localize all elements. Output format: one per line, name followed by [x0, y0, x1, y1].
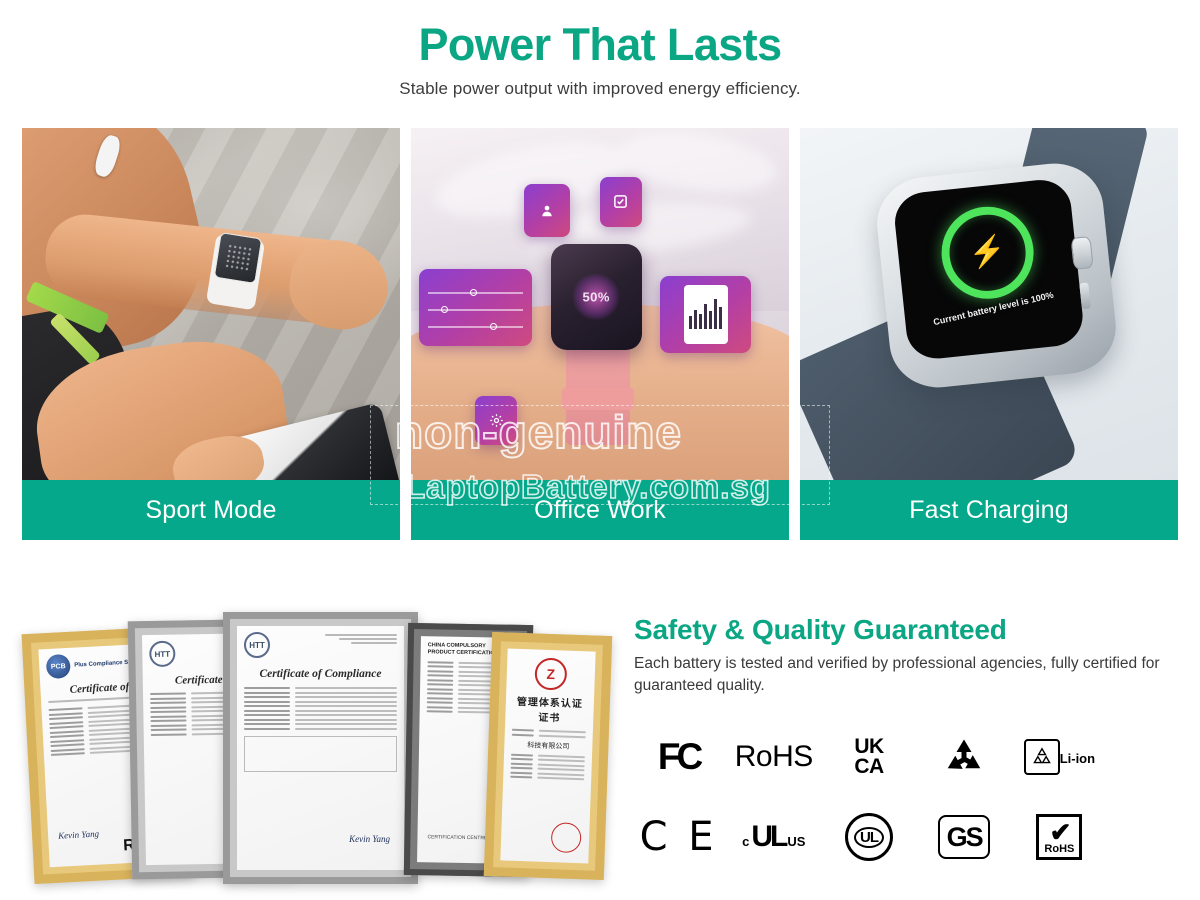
page-header: Power That Lasts Stable power output wit…	[0, 0, 1200, 99]
red-round-seal-icon	[551, 822, 582, 853]
page-title: Power That Lasts	[0, 18, 1200, 71]
culus-prefix: c	[742, 834, 749, 849]
feature-card-office-work[interactable]: 50% Office Work	[411, 128, 789, 540]
feature-card-label-fast-charging: Fast Charging	[800, 480, 1178, 540]
office-work-photo: 50%	[411, 128, 789, 480]
certificate-htt-main[interactable]: HTT Certificate of Compliance	[223, 612, 418, 884]
z-seal-icon: Z	[534, 658, 567, 691]
certificate-page: Z 管理体系认证证书 科技有限公司	[500, 649, 595, 864]
recycle-badge	[942, 737, 986, 777]
pcb-logo-icon: PCB	[46, 654, 71, 679]
watch-screen: ⚡ Current battery level is 100%	[892, 177, 1085, 361]
feature-card-list: Sport Mode	[22, 128, 1178, 540]
watch-case: ⚡ Current battery level is 100%	[873, 159, 1121, 393]
rohs-check-badge: ✔ RoHS	[1036, 814, 1082, 860]
certificate-title: Certificate of Compliance	[244, 668, 397, 680]
recycle-icon	[942, 737, 986, 777]
certificate-field-list	[244, 687, 397, 730]
ul-label: UL	[854, 827, 884, 848]
smartwatch-body: 50%	[551, 244, 642, 350]
gs-icon: GS	[938, 815, 990, 859]
watch-band-clasp	[562, 388, 634, 409]
bar-chart-icon	[689, 298, 722, 329]
recycle-outline-icon	[1030, 746, 1054, 768]
safety-description: Each battery is tested and verified by p…	[634, 653, 1182, 697]
feature-card-label-sport-mode: Sport Mode	[22, 480, 400, 540]
side-button[interactable]	[1080, 283, 1092, 309]
ce-icon: C E	[640, 814, 718, 860]
page-subtitle: Stable power output with improved energy…	[0, 79, 1200, 99]
ukca-icon: UK CA	[854, 737, 883, 776]
rohs-icon: RoHS	[735, 740, 813, 774]
settings-sliders-tile	[419, 269, 532, 346]
user-icon	[524, 184, 569, 237]
culus-suffix: US	[787, 834, 805, 849]
ukca-badge: UK CA	[854, 737, 883, 776]
analytics-chart-tile	[660, 276, 751, 353]
rohs-check-icon: ✔ RoHS	[1036, 814, 1082, 860]
safety-title: Safety & Quality Guaranteed	[634, 614, 1182, 646]
feature-card-fast-charging[interactable]: ⚡ Current battery level is 100% Fast Cha…	[800, 128, 1178, 540]
check-square-icon	[600, 177, 642, 226]
certificate-company: 科技有限公司	[511, 739, 585, 752]
rohs-badge: RoHS	[735, 740, 813, 774]
checkmark-icon: ✔	[1050, 819, 1072, 845]
li-ion-recycle-box	[1024, 739, 1060, 775]
digital-crown[interactable]	[1070, 236, 1094, 270]
promo-page: Power That Lasts Stable power output wit…	[0, 0, 1200, 900]
ce-badge: C E	[640, 814, 718, 860]
certification-centre-label: CERTIFICATION CENTRE	[427, 834, 487, 841]
task-check-tile	[600, 177, 642, 226]
certificate-signature: Kevin Yang	[58, 829, 99, 841]
gear-icon	[475, 396, 517, 445]
watch-screen-dots-icon	[224, 243, 252, 273]
certificate-title: 管理体系认证证书	[512, 693, 587, 726]
culus-icon: UL	[751, 820, 785, 854]
ul-recognized-badge: UL	[845, 813, 893, 861]
gs-badge: GS	[938, 815, 990, 859]
bottom-section: PCB Plus Compliance Service Certificate …	[0, 600, 1200, 900]
safety-quality-section: Safety & Quality Guaranteed Each battery…	[634, 614, 1182, 875]
ul-recognized-icon: UL	[845, 813, 893, 861]
htt-logo-icon: HTT	[149, 641, 175, 667]
htt-logo-icon: HTT	[244, 632, 270, 658]
settings-gear-tile	[475, 396, 517, 445]
fcc-icon: FC	[658, 736, 699, 778]
certificate-chinese-iso[interactable]: Z 管理体系认证证书 科技有限公司	[484, 632, 612, 880]
watch-battery-percent: 50%	[582, 289, 610, 304]
rohs-check-label: RoHS	[1044, 843, 1074, 855]
watch-face	[213, 232, 261, 284]
sport-mode-photo	[22, 128, 400, 480]
certificate-signature: Kevin Yang	[349, 834, 390, 844]
certification-badge-grid: FC RoHS UK CA	[634, 719, 1104, 875]
feature-card-label-office-work: Office Work	[411, 480, 789, 540]
li-ion-label: Li-ion	[1060, 751, 1095, 766]
li-ion-badge: Li-ion	[1024, 739, 1095, 775]
contact-card-tile	[524, 184, 569, 237]
certificate-collage: PCB Plus Compliance Service Certificate …	[18, 608, 618, 893]
lightning-bolt-icon: ⚡	[967, 236, 1007, 270]
chart-card-surface	[684, 285, 728, 344]
fcc-badge: FC	[658, 736, 699, 778]
feature-card-sport-mode[interactable]: Sport Mode	[22, 128, 400, 540]
culus-badge: c UL US	[742, 820, 805, 854]
certificate-page: HTT Certificate of Compliance	[237, 626, 404, 870]
fast-charging-photo: ⚡ Current battery level is 100%	[800, 128, 1178, 480]
